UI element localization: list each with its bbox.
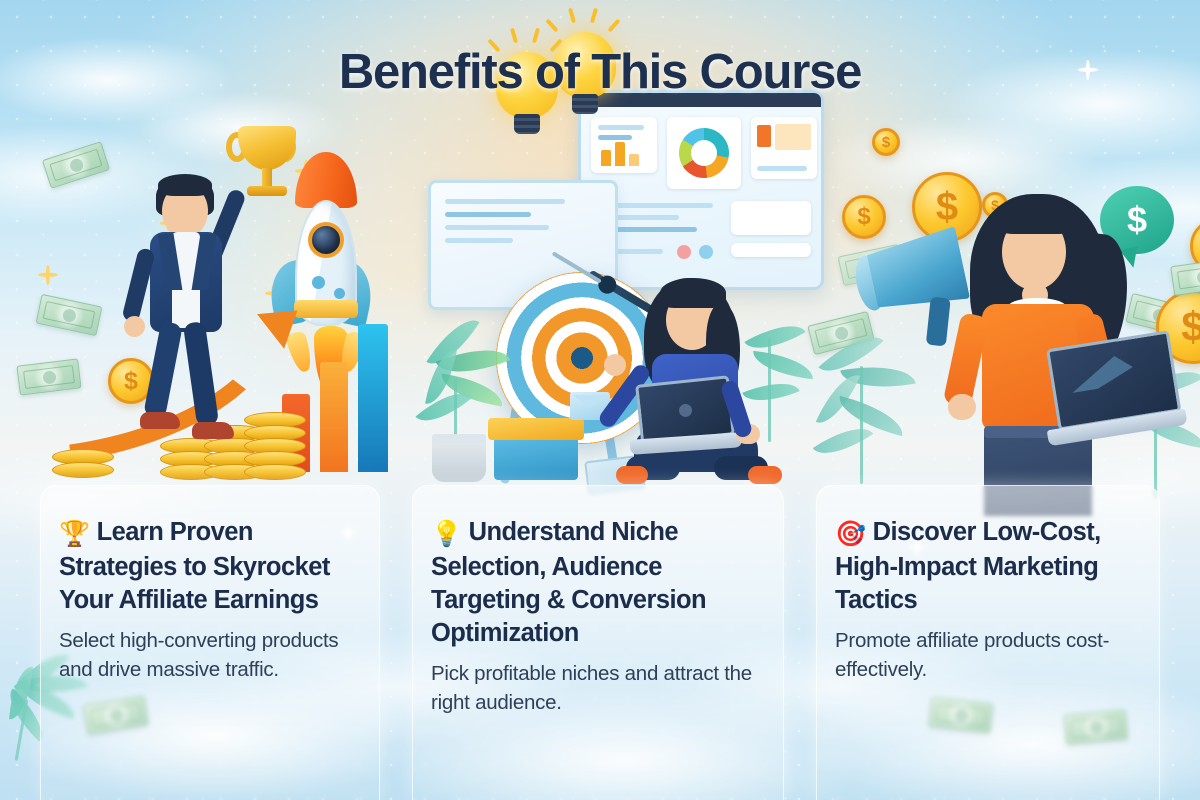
benefit-card-two-body: Pick profitable niches and attract the r…: [431, 659, 765, 717]
poster-canvas: Benefits of This Course: [0, 0, 1200, 800]
benefit-card-three-heading-text: Discover Low-Cost, High-Impact Marketing…: [835, 518, 1101, 614]
dollar-coin-icon: $: [1190, 218, 1200, 274]
benefit-card-one-body: Select high-converting products and driv…: [59, 626, 361, 684]
gift-box-graphic: [494, 434, 578, 480]
benefit-card-three-heading: 🎯Discover Low-Cost, High-Impact Marketin…: [835, 516, 1141, 617]
benefit-card-three-body: Promote affiliate products cost-effectiv…: [835, 626, 1141, 684]
donut-chart-graphic: [679, 128, 729, 178]
benefit-card-three[interactable]: 🎯Discover Low-Cost, High-Impact Marketin…: [816, 485, 1160, 800]
benefit-card-one-heading: 🏆Learn Proven Strategies to Skyrocket Yo…: [59, 516, 361, 617]
dartboard-icon: 🎯: [835, 520, 866, 548]
person-with-trophy: [100, 140, 300, 470]
benefit-card-two-heading: 💡Understand Niche Selection, Audience Ta…: [431, 516, 765, 650]
benefit-card-one-heading-text: Learn Proven Strategies to Skyrocket You…: [59, 518, 330, 614]
dollar-coin-icon: $: [872, 128, 900, 156]
page-title: Benefits of This Course: [0, 44, 1200, 100]
trophy-graphic: [228, 122, 308, 202]
trophy-icon: 🏆: [59, 520, 90, 548]
person-with-laptop: [610, 268, 800, 504]
dollar-coin-icon: $: [842, 195, 886, 239]
laptop-icon: [1028, 329, 1193, 461]
benefit-card-two[interactable]: 💡Understand Niche Selection, Audience Ta…: [412, 485, 784, 800]
gift-box-lid: [488, 418, 584, 440]
lightbulb-icon: 💡: [431, 520, 462, 548]
benefit-card-one[interactable]: 🏆Learn Proven Strategies to Skyrocket Yo…: [40, 485, 380, 800]
benefit-card-two-heading-text: Understand Niche Selection, Audience Tar…: [431, 518, 706, 647]
benefit-cards-row: 🏆Learn Proven Strategies to Skyrocket Yo…: [0, 485, 1200, 800]
